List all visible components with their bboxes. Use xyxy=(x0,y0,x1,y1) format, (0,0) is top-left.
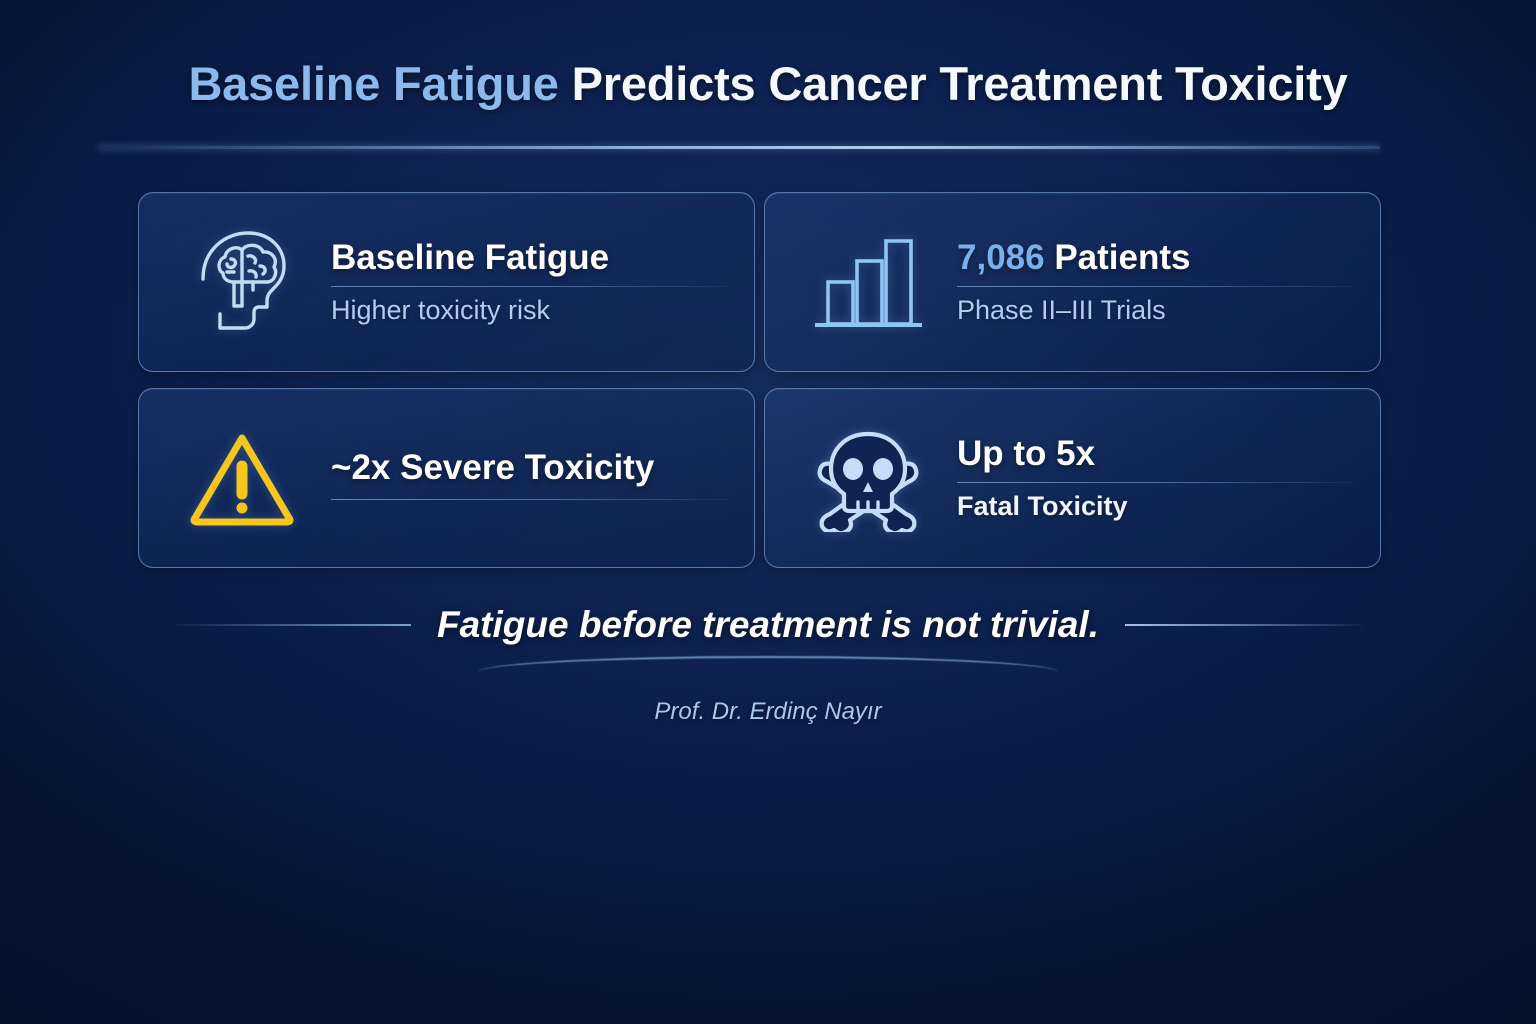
infographic-slide: Baseline Fatigue Predicts Cancer Treatme… xyxy=(0,0,1536,1024)
card-body: 7,086 Patients Phase II–III Trials xyxy=(957,238,1354,327)
page-title: Baseline Fatigue Predicts Cancer Treatme… xyxy=(0,58,1536,110)
card-divider xyxy=(331,286,728,288)
brain-head-icon xyxy=(179,223,305,341)
quote-section: Fatigue before treatment is not trivial.… xyxy=(0,604,1536,726)
card-divider xyxy=(331,499,728,501)
stat-card-baseline-fatigue[interactable]: Baseline Fatigue Higher toxicity risk xyxy=(138,192,755,372)
header: Baseline Fatigue Predicts Cancer Treatme… xyxy=(0,58,1536,110)
card-primary-text: ~2x Severe Toxicity xyxy=(331,448,728,487)
card-body: Up to 5x Fatal Toxicity xyxy=(957,434,1354,523)
quote-underline-arc xyxy=(478,656,1058,672)
card-divider xyxy=(957,482,1354,484)
quote-row: Fatigue before treatment is not trivial. xyxy=(0,604,1536,646)
skull-crossbones-icon xyxy=(805,419,931,537)
title-plain-text: Predicts Cancer Treatment Toxicity xyxy=(559,57,1348,110)
patient-count-value: 7,086 xyxy=(957,238,1045,277)
card-primary-text: Baseline Fatigue xyxy=(331,238,728,277)
patient-count-label: Patients xyxy=(1045,238,1191,277)
quote-attribution: Prof. Dr. Erdinç Nayır xyxy=(0,698,1536,726)
title-accent-text: Baseline Fatigue xyxy=(188,57,558,110)
card-primary-text: 7,086 Patients xyxy=(957,238,1354,277)
quote-text: Fatigue before treatment is not trivial. xyxy=(411,604,1125,646)
warning-triangle-icon xyxy=(179,419,305,537)
card-sub-text: Higher toxicity risk xyxy=(331,295,728,326)
card-body: ~2x Severe Toxicity xyxy=(331,448,728,509)
card-sub-text: Fatal Toxicity xyxy=(957,491,1354,522)
card-sub-text: Phase II–III Trials xyxy=(957,295,1354,326)
stat-card-fatal-toxicity[interactable]: Up to 5x Fatal Toxicity xyxy=(764,388,1381,568)
card-body: Baseline Fatigue Higher toxicity risk xyxy=(331,238,728,327)
card-primary-text: Up to 5x xyxy=(957,434,1354,473)
bar-chart-icon xyxy=(805,223,931,341)
stat-card-severe-toxicity[interactable]: ~2x Severe Toxicity xyxy=(138,388,755,568)
card-divider xyxy=(957,286,1354,288)
title-divider xyxy=(98,146,1380,149)
stat-card-patients[interactable]: 7,086 Patients Phase II–III Trials xyxy=(764,192,1381,372)
quote-rule-left xyxy=(175,624,411,626)
quote-rule-right xyxy=(1125,624,1361,626)
stat-card-grid: Baseline Fatigue Higher toxicity risk 7,… xyxy=(138,192,1381,568)
